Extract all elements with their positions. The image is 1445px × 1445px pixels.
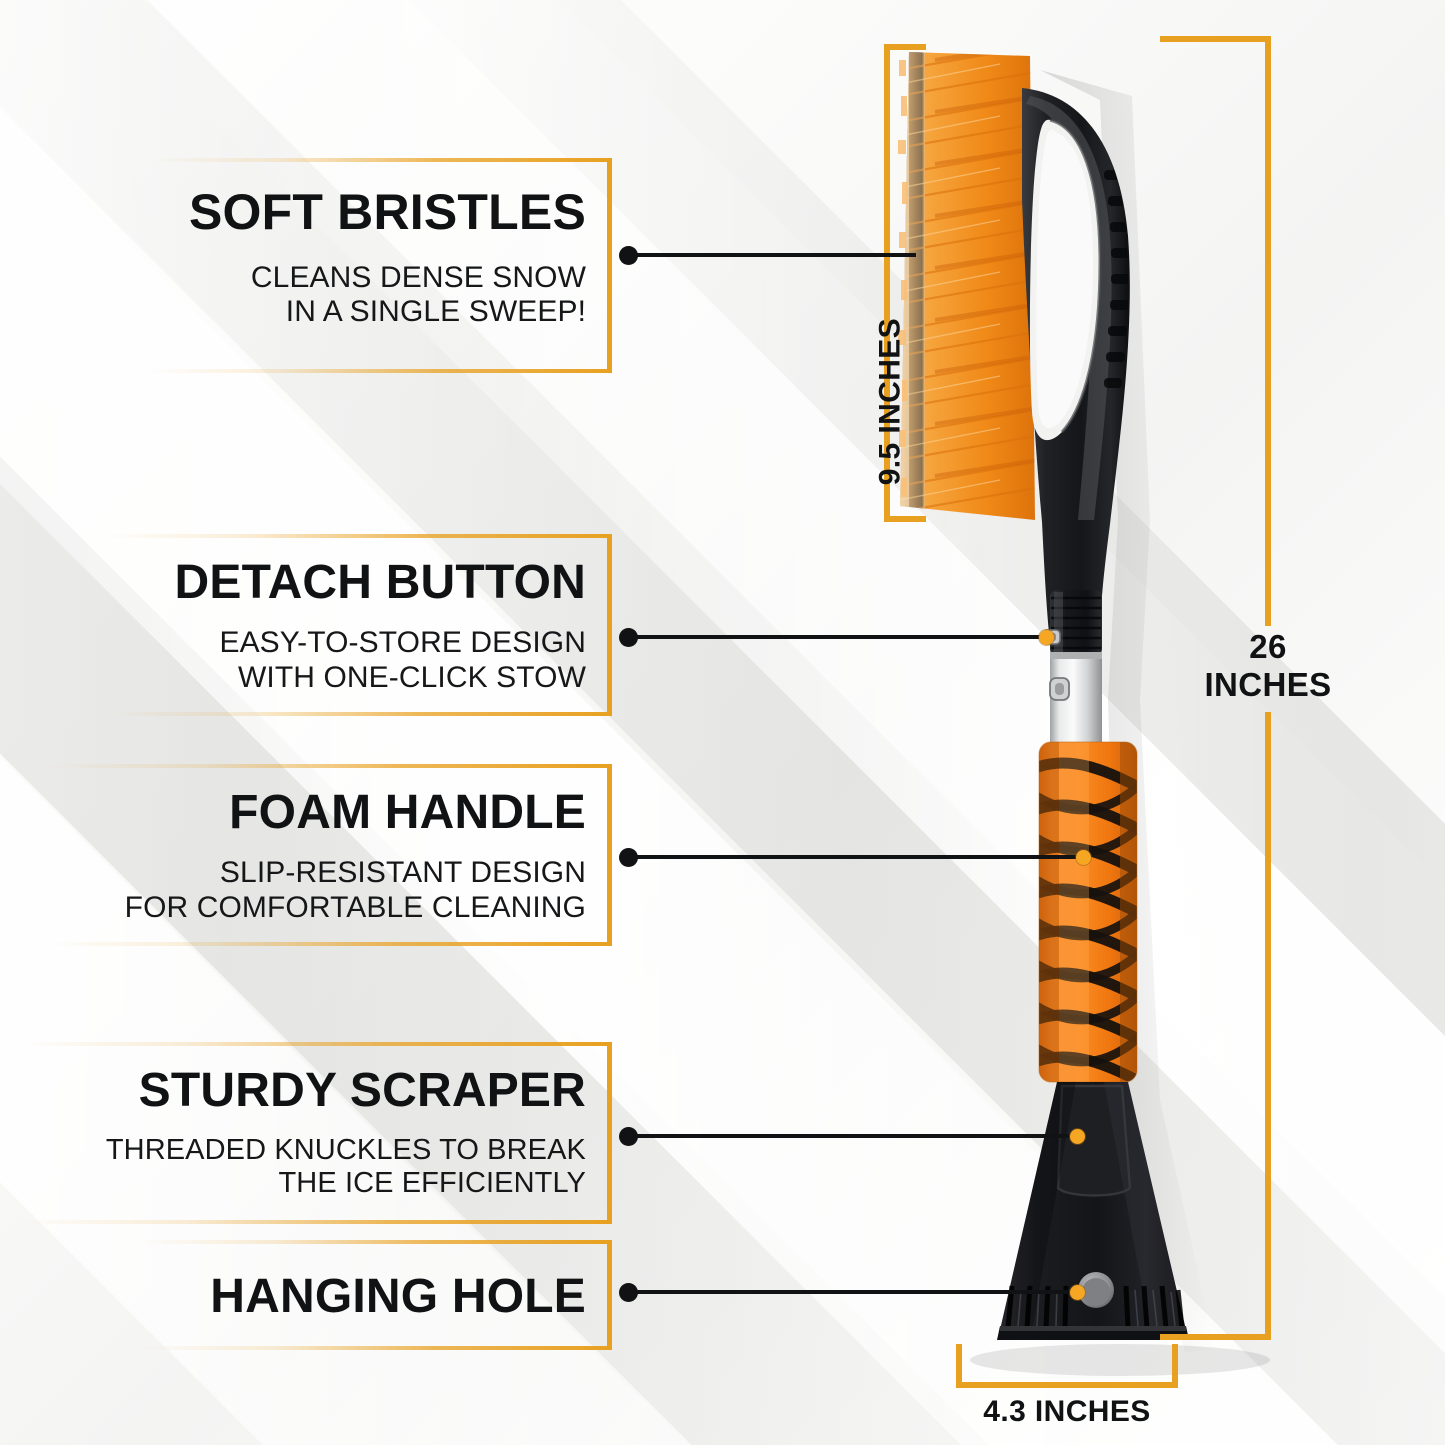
dimension-26-inches-line2: INCHES — [1188, 668, 1348, 702]
leader-line-sturdy-scraper — [628, 1134, 1078, 1138]
bracket-4-3-left — [956, 1344, 962, 1388]
callout-foam-handle[interactable]: FOAM HANDLE SLIP-RESISTANT DESIGN FOR CO… — [48, 764, 612, 946]
callout-subtitle-sturdy-scraper: THREADED KNUCKLES TO BREAK THE ICE EFFIC… — [20, 1134, 586, 1200]
dimension-9-5-inches: 9.5 INCHES — [874, 277, 905, 527]
callout-title-soft-bristles: SOFT BRISTLES — [150, 186, 586, 239]
callout-hanging-hole[interactable]: HANGING HOLE — [140, 1240, 612, 1350]
callout-subtitle-soft-bristles: CLEANS DENSE SNOW IN A SINGLE SWEEP! — [150, 261, 586, 329]
bracket-4-3-right — [1172, 1344, 1178, 1388]
bracket-26-bottom — [1160, 1334, 1271, 1340]
callout-subtitle-detach-button: EASY-TO-STORE DESIGN WITH ONE-CLICK STOW — [108, 626, 586, 694]
callout-title-detach-button: DETACH BUTTON — [108, 558, 586, 608]
callout-sturdy-scraper[interactable]: STURDY SCRAPER THREADED KNUCKLES TO BREA… — [20, 1042, 612, 1224]
callout-subtitle-foam-handle: SLIP-RESISTANT DESIGN FOR COMFORTABLE CL… — [48, 856, 586, 924]
bracket-26-vertical-upper — [1265, 36, 1271, 626]
leader-tip-detach-button — [1039, 630, 1054, 645]
callout-border-bottom — [48, 942, 612, 946]
bracket-4-3-horizontal — [956, 1382, 1178, 1388]
leader-tip-sturdy-scraper — [1070, 1129, 1085, 1144]
leader-line-hanging-hole — [628, 1290, 1078, 1294]
callout-detach-button[interactable]: DETACH BUTTON EASY-TO-STORE DESIGN WITH … — [108, 534, 612, 716]
leader-tip-foam-handle — [1076, 850, 1091, 865]
leader-line-soft-bristles — [628, 253, 916, 257]
callout-border-bottom — [150, 369, 612, 373]
leader-line-foam-handle — [628, 855, 1084, 859]
dimension-4-3-inches: 4.3 INCHES — [937, 1396, 1197, 1427]
callout-title-sturdy-scraper: STURDY SCRAPER — [20, 1066, 586, 1116]
bracket-26-top — [1160, 36, 1271, 42]
leader-tip-hanging-hole — [1070, 1285, 1085, 1300]
callout-title-foam-handle: FOAM HANDLE — [48, 788, 586, 838]
dimension-26-inches-line1: 26 — [1188, 630, 1348, 664]
callout-border-bottom — [20, 1220, 612, 1224]
callout-border-bottom — [140, 1346, 612, 1350]
bracket-26-vertical-lower — [1265, 712, 1271, 1340]
bracket-9-5-top — [884, 44, 926, 50]
callout-title-hanging-hole: HANGING HOLE — [140, 1272, 586, 1322]
callout-soft-bristles[interactable]: SOFT BRISTLES CLEANS DENSE SNOW IN A SIN… — [150, 158, 612, 373]
leader-line-detach-button — [628, 635, 1048, 639]
callout-border-bottom — [108, 712, 612, 716]
